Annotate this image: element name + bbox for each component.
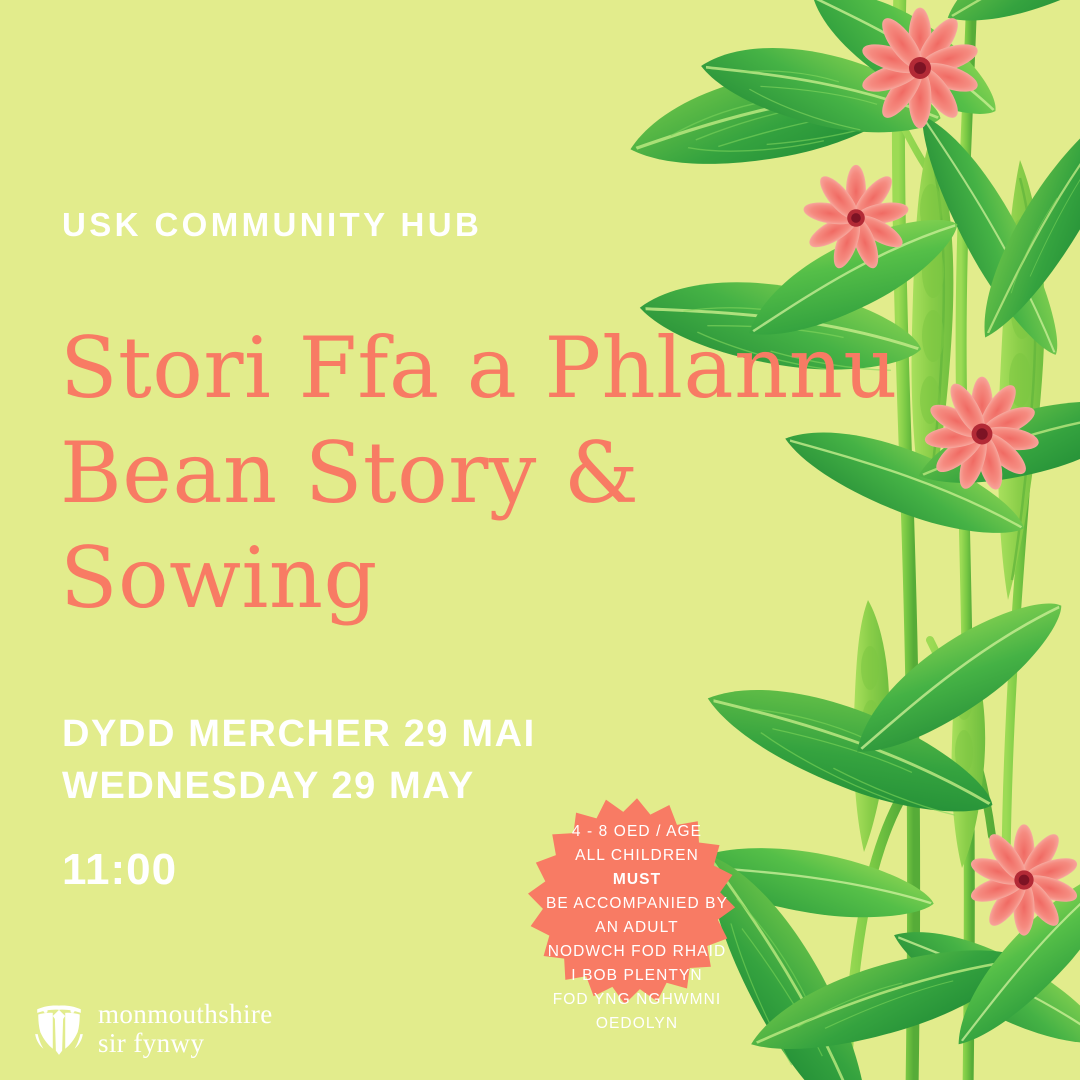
badge-line-nodwch: NODWCH FOD RHAID (548, 940, 727, 964)
event-date-welsh: DYDD MERCHER 29 MAI (62, 708, 536, 760)
plant-stems (846, 0, 1030, 1080)
badge-line-adult: AN ADULT (595, 916, 678, 940)
monmouthshire-shield-crest-icon (33, 1001, 85, 1057)
logo-word-english: monmouthshire (98, 1000, 273, 1029)
age-requirement-badge: 4 - 8 OED / AGE ALL CHILDREN MUST BE ACC… (505, 797, 769, 1059)
event-time: 11:00 (62, 848, 177, 892)
badge-line-plentyn: I BOB PLENTYN (571, 964, 702, 988)
bean-pods (853, 140, 1044, 868)
badge-text-block: 4 - 8 OED / AGE ALL CHILDREN MUST BE ACC… (505, 797, 769, 1059)
organisation-eyebrow: USK COMMUNITY HUB (62, 208, 482, 241)
logo-word-welsh: sir fynwy (98, 1029, 273, 1058)
title-line-english-1: Bean Story & (60, 421, 860, 526)
logo-wordmark: monmouthshire sir fynwy (98, 1000, 273, 1058)
title-line-english-2: Sowing (60, 526, 860, 631)
badge-line-age: 4 - 8 OED / AGE (572, 820, 702, 844)
poster-canvas: USK COMMUNITY HUB Stori Ffa a Phlannu Be… (0, 0, 1080, 1080)
badge-children-must: MUST (575, 868, 699, 892)
event-date-english: WEDNESDAY 29 MAY (62, 760, 536, 812)
page-title: Stori Ffa a Phlannu Bean Story & Sowing (60, 316, 860, 631)
badge-line-nghwmni: FOD YNG NGHWMNI (553, 988, 722, 1012)
badge-children-prefix: ALL CHILDREN (575, 844, 699, 868)
title-line-welsh: Stori Ffa a Phlannu (60, 316, 860, 421)
event-date: DYDD MERCHER 29 MAI WEDNESDAY 29 MAY (62, 708, 536, 812)
badge-line-accompanied: BE ACCOMPANIED BY (546, 892, 728, 916)
badge-line-children: ALL CHILDREN MUST (575, 844, 699, 892)
monmouthshire-logo: monmouthshire sir fynwy (33, 1000, 273, 1058)
badge-line-oedolyn: OEDOLYN (596, 1012, 678, 1036)
